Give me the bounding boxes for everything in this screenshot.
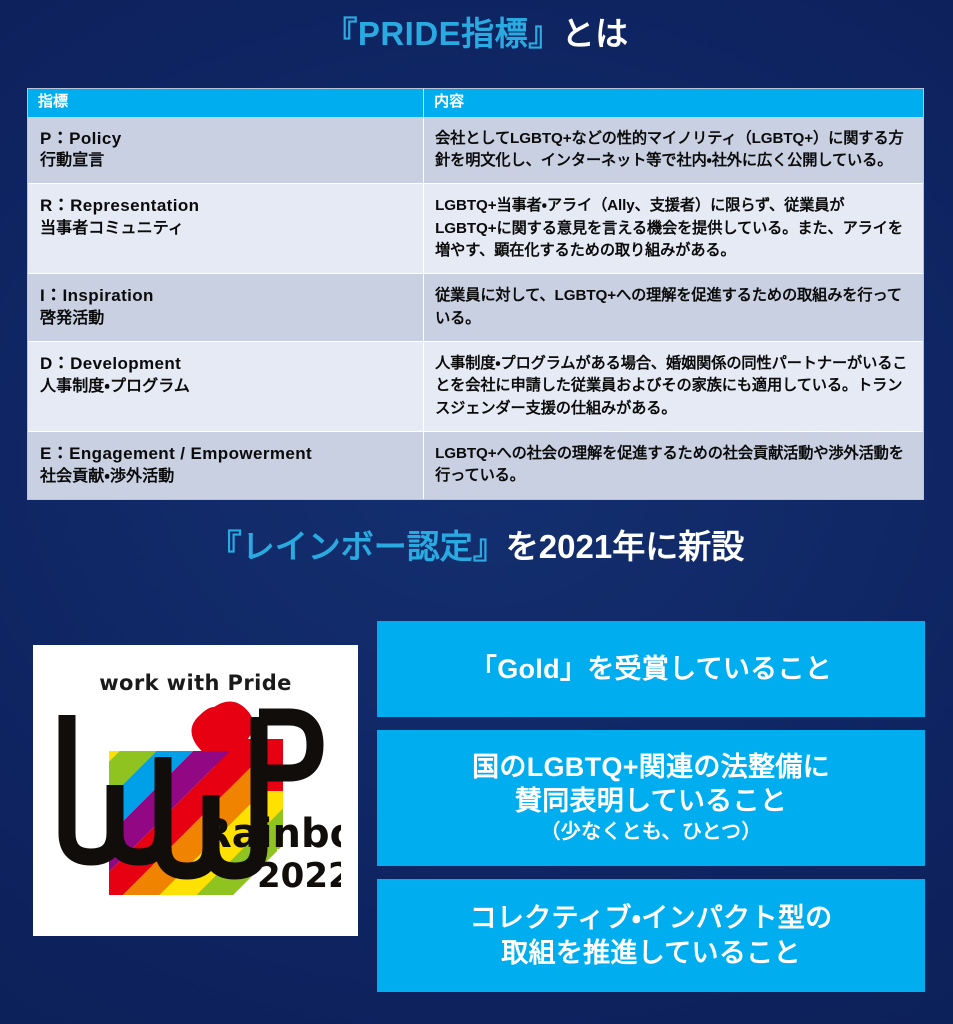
section-title-rainbow: 『レインボー認定』を2021年に新設	[0, 527, 953, 567]
table-cell-description: LGBTQ+当事者・アライ（Ally、支援者）に限らず、従業員がLGBTQ+に関…	[424, 184, 923, 274]
page-title-accent: 『PRIDE指標』	[324, 15, 561, 52]
indicator-english: I：Inspiration	[40, 285, 413, 308]
table-cell-description: 会社としてLGBTQ+などの性的マイノリティ（LGBTQ+）に関する方針を明文化…	[424, 117, 923, 184]
criteria-sub-note: （少なくとも、ひとつ）	[540, 820, 761, 845]
logo-year-text: 2022	[257, 856, 341, 896]
criteria-box-collective-impact: コレクティブ・インパクト型の 取組を推進していること	[377, 879, 925, 992]
indicator-english: R：Representation	[40, 195, 413, 218]
table-cell-indicator: D：Development 人事制度・プログラム	[28, 341, 424, 431]
indicator-japanese: 当事者コミュニティ	[40, 218, 413, 239]
criteria-box-legislation: 国のLGBTQ+関連の法整備に 賛同表明していること （少なくとも、ひとつ）	[377, 730, 925, 866]
table-cell-description: LGBTQ+への社会の理解を促進するための社会貢献活動や渉外活動を行っている。	[424, 431, 923, 498]
wwp-rainbow-logo-icon: Rainbow 2022	[51, 699, 341, 909]
indicator-english: P：Policy	[40, 128, 413, 151]
table-cell-indicator: R：Representation 当事者コミュニティ	[28, 184, 424, 274]
table-cell-indicator: P：Policy 行動宣言	[28, 117, 424, 184]
table-header-indicator: 指標	[28, 89, 424, 117]
section-title-accent: 『レインボー認定』	[209, 528, 506, 565]
criteria-line-2: 取組を推進していること	[501, 936, 801, 970]
table-cell-description: 人事制度・プログラムがある場合、婚姻関係の同性パートナーがいることを会社に申請し…	[424, 341, 923, 431]
table-row: I：Inspiration 啓発活動 従業員に対して、LGBTQ+への理解を促進…	[28, 274, 923, 342]
criteria-line-1: 「Gold」を受賞していること	[470, 652, 832, 686]
pride-indicator-table-wrapper: 指標 内容 P：Policy 行動宣言 会社としてLGBTQ+などの性的マイノリ…	[27, 88, 924, 500]
pride-indicator-table: 指標 内容 P：Policy 行動宣言 会社としてLGBTQ+などの性的マイノリ…	[28, 89, 923, 499]
section-title-plain: を2021年に新設	[506, 528, 744, 565]
criteria-line-1: コレクティブ・インパクト型の	[470, 901, 833, 935]
table-row: P：Policy 行動宣言 会社としてLGBTQ+などの性的マイノリティ（LGB…	[28, 117, 923, 184]
work-with-pride-logo-card: work with Pride	[33, 645, 358, 936]
criteria-line-2: 賛同表明していること	[515, 784, 787, 818]
table-row: E：Engagement / Empowerment 社会貢献・渉外活動 LGB…	[28, 431, 923, 498]
indicator-english: E：Engagement / Empowerment	[40, 443, 413, 466]
logo-rainbow-text: Rainbow	[201, 811, 341, 857]
table-row: D：Development 人事制度・プログラム 人事制度・プログラムがある場合…	[28, 341, 923, 431]
table-cell-indicator: E：Engagement / Empowerment 社会貢献・渉外活動	[28, 431, 424, 498]
table-header-row: 指標 内容	[28, 89, 923, 117]
criteria-box-list: 「Gold」を受賞していること 国のLGBTQ+関連の法整備に 賛同表明している…	[377, 621, 925, 992]
indicator-japanese: 行動宣言	[40, 150, 413, 171]
rainbow-certification-section: work with Pride	[0, 645, 953, 1015]
table-header-content: 内容	[424, 89, 923, 117]
indicator-english: D：Development	[40, 353, 413, 376]
indicator-japanese: 啓発活動	[40, 308, 413, 329]
criteria-line-1: 国のLGBTQ+関連の法整備に	[472, 750, 830, 784]
table-cell-description: 従業員に対して、LGBTQ+への理解を促進するための取組みを行っている。	[424, 274, 923, 342]
criteria-box-gold: 「Gold」を受賞していること	[377, 621, 925, 717]
indicator-japanese: 社会貢献・渉外活動	[40, 466, 413, 487]
page-title-plain: とは	[562, 15, 629, 52]
logo-wordmark: work with Pride	[99, 671, 292, 695]
page-title: 『PRIDE指標』とは	[0, 0, 953, 54]
indicator-japanese: 人事制度・プログラム	[40, 376, 413, 397]
table-cell-indicator: I：Inspiration 啓発活動	[28, 274, 424, 342]
logo-artwork: Rainbow 2022	[51, 699, 341, 909]
table-row: R：Representation 当事者コミュニティ LGBTQ+当事者・アライ…	[28, 184, 923, 274]
